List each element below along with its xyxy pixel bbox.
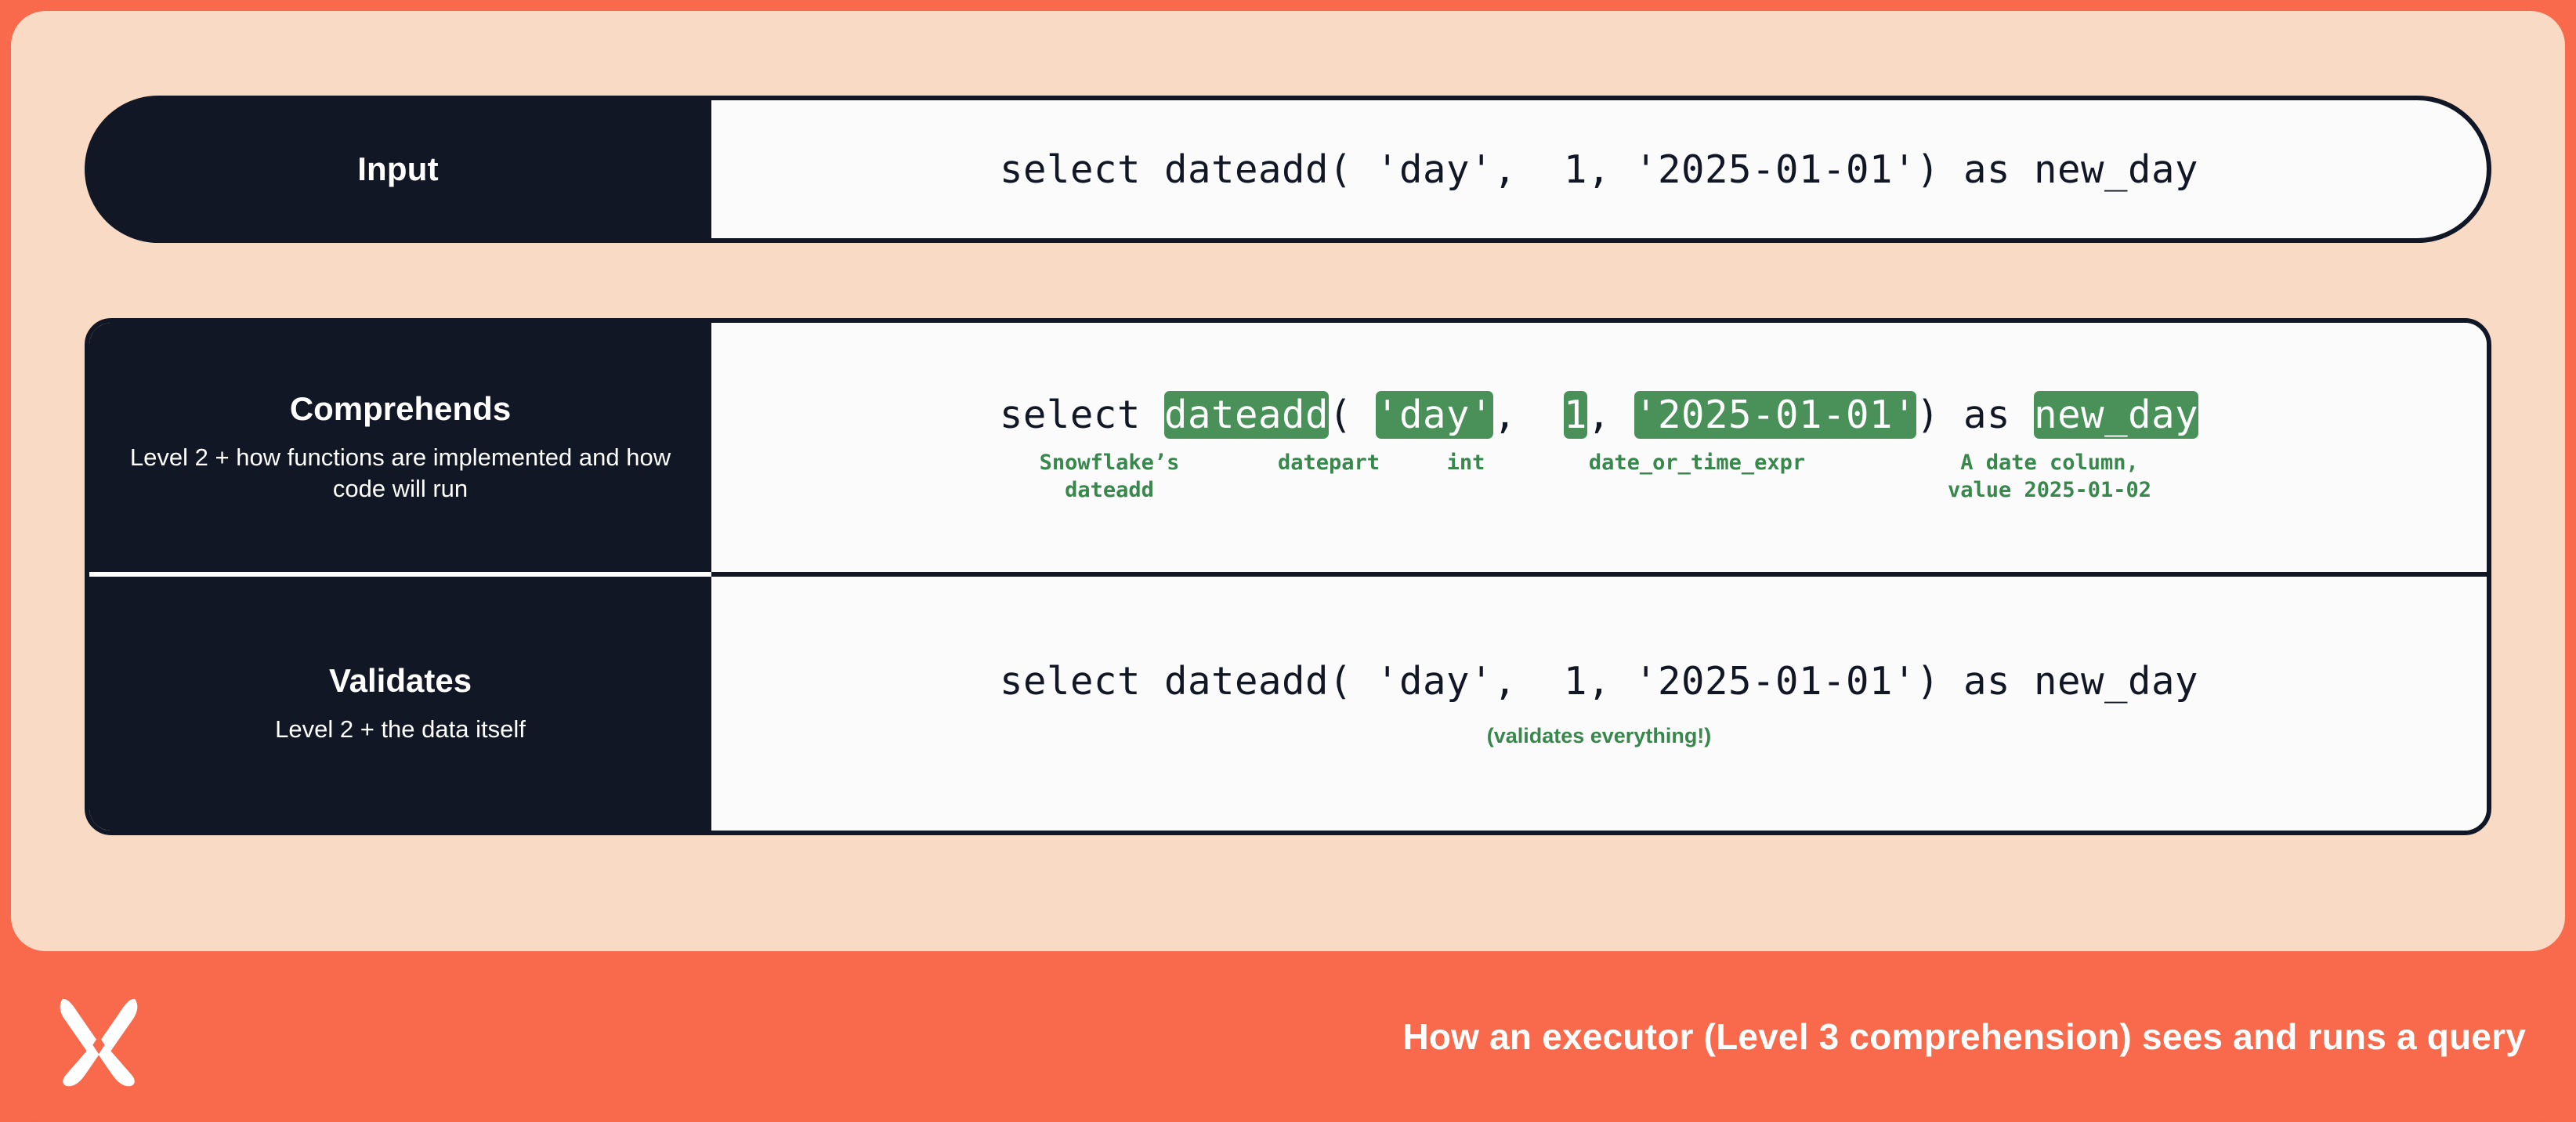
footer-bar: How an executor (Level 3 comprehension) …: [0, 951, 2576, 1122]
validates-label-cell: Validates Level 2 + the data itself: [89, 572, 711, 831]
input-row: Input select dateadd( 'day', 1, '2025-01…: [85, 96, 2491, 243]
comprehends-title: Comprehends: [290, 390, 511, 428]
comprehends-annotation-row: Snowflake’sdateadddatepartintdate_or_tim…: [980, 450, 2218, 503]
footer-caption: How an executor (Level 3 comprehension) …: [1402, 1015, 2526, 1058]
code-plain: select: [1000, 393, 1164, 437]
code-plain: ) as: [1916, 393, 2034, 437]
validates-code-cell: select dateadd( 'day', 1, '2025-01-01') …: [711, 572, 2487, 831]
code-annotation: datepart: [1239, 450, 1419, 503]
code-annotation: date_or_time_expr: [1513, 450, 1881, 503]
code-plain: ,: [1493, 393, 1564, 437]
code-highlight: 'day': [1376, 391, 1493, 439]
x-mark-logo-icon: [49, 989, 149, 1089]
code-highlight: '2025-01-01': [1634, 391, 1916, 439]
code-annotation: A date column,value 2025-01-02: [1881, 450, 2218, 503]
comprehends-code-cell: select dateadd( 'day', 1, '2025-01-01') …: [711, 323, 2487, 572]
validates-description: Level 2 + the data itself: [275, 714, 526, 745]
code-annotation: int: [1419, 450, 1513, 503]
comprehends-query-text: select dateadd( 'day', 1, '2025-01-01') …: [1000, 391, 2198, 439]
code-annotation: Snowflake’sdateadd: [980, 450, 1239, 503]
code-highlight: new_day: [2034, 391, 2198, 439]
code-highlight: dateadd: [1164, 391, 1329, 439]
code-plain: (: [1329, 393, 1376, 437]
validates-note: (validates everything!): [1487, 724, 1712, 748]
input-query-text: select dateadd( 'day', 1, '2025-01-01') …: [1000, 147, 2198, 192]
levels-card-code: select dateadd( 'day', 1, '2025-01-01') …: [711, 323, 2487, 831]
comprehends-description: Level 2 + how functions are implemented …: [116, 442, 685, 505]
input-row-label: Input: [85, 96, 711, 243]
code-highlight: 1: [1564, 391, 1587, 439]
levels-card: Comprehends Level 2 + how functions are …: [85, 318, 2491, 835]
validates-title: Validates: [329, 662, 472, 700]
input-row-code-panel: select dateadd( 'day', 1, '2025-01-01') …: [711, 96, 2491, 243]
levels-card-labels: Comprehends Level 2 + how functions are …: [89, 323, 711, 831]
poster-frame: Input select dateadd( 'day', 1, '2025-01…: [0, 0, 2576, 1122]
code-plain: ,: [1587, 393, 1634, 437]
validates-query-text: select dateadd( 'day', 1, '2025-01-01') …: [1000, 659, 2198, 704]
comprehends-label-cell: Comprehends Level 2 + how functions are …: [89, 323, 711, 572]
